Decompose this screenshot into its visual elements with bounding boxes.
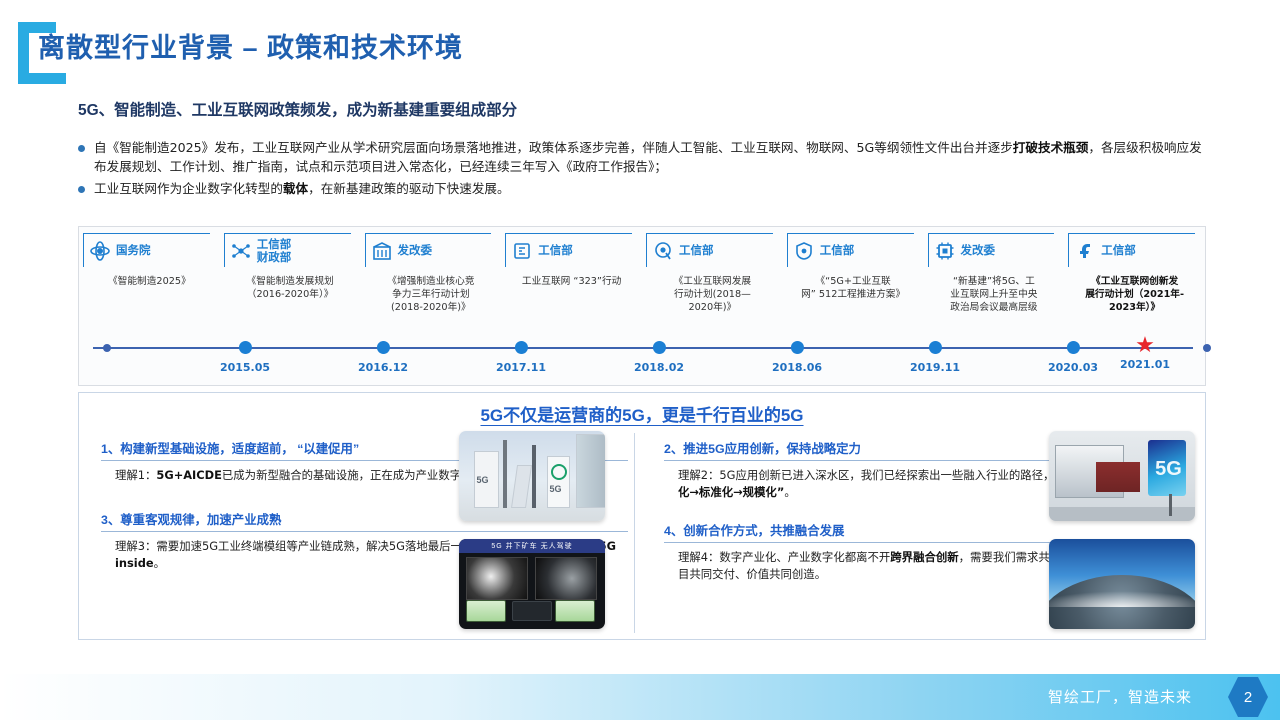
insights-right-column: 2、推进5G应用创新，保持战略定力 理解2：5G应用创新已进入深水区，我们已经探…: [642, 431, 1205, 639]
page-subtitle: 5G、智能制造、工业互联网政策频发，成为新基建重要组成部分: [78, 98, 517, 120]
timeline-point-2018.06: 2018.06: [772, 339, 822, 374]
bracket-bottom-bar: [18, 73, 66, 84]
speaker-horn-icon: [1075, 241, 1095, 261]
timeline-card: 工信部《“5G+工业互联网” 512工程推进方案》: [783, 227, 924, 327]
timeline-point-2016.12: 2016.12: [358, 339, 408, 374]
timeline-card-document: 《“5G+工业互联网” 512工程推进方案》: [789, 276, 918, 302]
timeline-date-label: 2018.06: [772, 361, 822, 374]
timeline-card-org: 发改委: [398, 244, 433, 256]
timeline-card-header: 工信部财政部: [224, 233, 351, 267]
timeline-dot-icon: [790, 341, 803, 354]
atom-network-icon: [90, 241, 110, 261]
timeline-card-org: 工信部财政部: [257, 238, 292, 263]
timeline-point-2017.11: 2017.11: [496, 339, 546, 374]
timeline-card: 工信部《工业互联网发展行动计划(2018—2020年)》: [642, 227, 783, 327]
timeline-point-2015.05: 2015.05: [220, 339, 270, 374]
timeline-card: 发改委“新基建”将5G、工业互联网上升至中央政治局会议最高层级: [924, 227, 1065, 327]
timeline-date-label: 2019.11: [910, 361, 960, 374]
timeline-card-header: 发改委: [365, 233, 492, 267]
timeline-card-org: 工信部: [1101, 244, 1136, 256]
timeline-card-org: 工信部: [820, 244, 855, 256]
bullet-dot-icon: [78, 186, 85, 193]
timeline-dot-icon: [103, 344, 111, 352]
timeline-card-document: “新基建”将5G、工业互联网上升至中央政治局会议最高层级: [930, 276, 1059, 314]
timeline-card: 工信部《工业互联网创新发展行动计划（2021年-2023年）》: [1064, 227, 1205, 327]
timeline-dot-icon: [1203, 344, 1211, 352]
timeline-card-header: 发改委: [928, 233, 1055, 267]
timeline-card-document: 《增强制造业核心竞争力三年行动计划(2018-2020年)》: [367, 276, 496, 314]
timeline-card-header: 国务院: [83, 233, 210, 267]
page-number-badge: 2: [1228, 677, 1268, 717]
timeline-endpoint: [1203, 339, 1211, 352]
timeline-card-header: 工信部: [1068, 233, 1195, 267]
timeline-card-document: 《智能制造发展规划（2016-2020年）》: [226, 276, 355, 302]
timeline-card-document: 《工业互联网发展行动计划(2018—2020年)》: [648, 276, 777, 314]
timeline-card-document: 《工业互联网创新发展行动计划（2021年-2023年）》: [1070, 276, 1199, 314]
timeline-card-row: 国务院《智能制造2025》工信部财政部《智能制造发展规划（2016-2020年）…: [79, 227, 1205, 327]
footer-slogan: 智绘工厂，智造未来: [1048, 686, 1192, 707]
timeline-card-org: 国务院: [116, 244, 151, 256]
timeline-date-label: 2017.11: [496, 361, 546, 374]
bullet-text: 工业互联网作为企业数字化转型的载体，在新基建政策的驱动下快速发展。: [94, 179, 510, 198]
timeline-card: 发改委《增强制造业核心竞争力三年行动计划(2018-2020年)》: [361, 227, 502, 327]
timeline-point-2020.03: 2020.03: [1048, 339, 1098, 374]
timeline-card-document: 《智能制造2025》: [85, 276, 214, 289]
timeline-point-2018.02: 2018.02: [634, 339, 684, 374]
bank-building-icon: [372, 241, 392, 261]
mine-truck-console-photo: 5G 井下矿车 无人驾驶: [459, 539, 605, 629]
insights-left-column: 1、构建新型基础设施，适度超前， “以建促用” 理解1：5G+AICDE已成为新…: [79, 431, 642, 639]
timeline-point-2021.01: ★2021.01: [1120, 339, 1170, 371]
timeline-date-label: 2020.03: [1048, 361, 1098, 374]
left-thumbnail-stack: 5G5G 5G 井下矿车 无人驾驶: [459, 431, 609, 639]
timeline-date-label: 2021.01: [1120, 358, 1170, 371]
policy-timeline-panel: 国务院《智能制造2025》工信部财政部《智能制造发展规划（2016-2020年）…: [78, 226, 1206, 386]
signal-radar-icon: [653, 241, 673, 261]
timeline-date-label: 2016.12: [358, 361, 408, 374]
timeline-axis: 2015.052016.122017.112018.022018.062019.…: [79, 339, 1205, 387]
timeline-card-org: 工信部: [538, 244, 573, 256]
footer-bar: 智绘工厂，智造未来 2: [0, 674, 1280, 720]
timeline-dot-icon: [1066, 341, 1079, 354]
city-globe-photo: [1049, 539, 1195, 629]
bullet-text: 自《智能制造2025》发布，工业互联网产业从学术研究层面向场景落地推进，政策体系…: [94, 138, 1208, 176]
timeline-date-label: 2018.02: [634, 361, 684, 374]
factory-5g-sign-photo: 5G: [1049, 431, 1195, 521]
timeline-card: 工信部工业互联网 “323”行动: [501, 227, 642, 327]
timeline-card-document: 工业互联网 “323”行动: [507, 276, 636, 289]
timeline-card-header: 工信部: [646, 233, 773, 267]
page-title: 离散型行业背景 – 政策和技术环境: [38, 26, 463, 65]
timeline-dot-icon: [376, 341, 389, 354]
timeline-card-org: 发改委: [961, 244, 996, 256]
timeline-date-label: 2015.05: [220, 361, 270, 374]
bullet-dot-icon: [78, 145, 85, 152]
timeline-card-header: 工信部: [787, 233, 914, 267]
timeline-dot-icon: [928, 341, 941, 354]
list-item: 自《智能制造2025》发布，工业互联网产业从学术研究层面向场景落地推进，政策体系…: [78, 138, 1208, 176]
timeline-point-2019.11: 2019.11: [910, 339, 960, 374]
5g-tower-photo: 5G5G: [459, 431, 605, 521]
timeline-card: 国务院《智能制造2025》: [79, 227, 220, 327]
circuit-chip-icon: [512, 241, 532, 261]
timeline-card-org: 工信部: [679, 244, 714, 256]
5g-insights-panel: 5G不仅是运营商的5G，更是千行百业的5G 1、构建新型基础设施，适度超前， “…: [78, 392, 1206, 640]
milestone-star-icon: ★: [1120, 338, 1170, 351]
right-thumbnail-stack: 5G: [1049, 431, 1199, 639]
timeline-card-header: 工信部: [505, 233, 632, 267]
timeline-endpoint: [103, 339, 111, 352]
timeline-dot-icon: [652, 341, 665, 354]
timeline-dot-icon: [238, 341, 251, 354]
list-item: 工业互联网作为企业数字化转型的载体，在新基建政策的驱动下快速发展。: [78, 179, 1208, 198]
timeline-card: 工信部财政部《智能制造发展规划（2016-2020年）》: [220, 227, 361, 327]
shield-gear-icon: [794, 241, 814, 261]
panel-banner-title: 5G不仅是运营商的5G，更是千行百业的5G: [79, 393, 1205, 426]
network-node-icon: [231, 241, 251, 261]
timeline-dot-icon: [514, 341, 527, 354]
bullet-list: 自《智能制造2025》发布，工业互联网产业从学术研究层面向场景落地推进，政策体系…: [78, 138, 1208, 201]
cpu-icon: [935, 241, 955, 261]
